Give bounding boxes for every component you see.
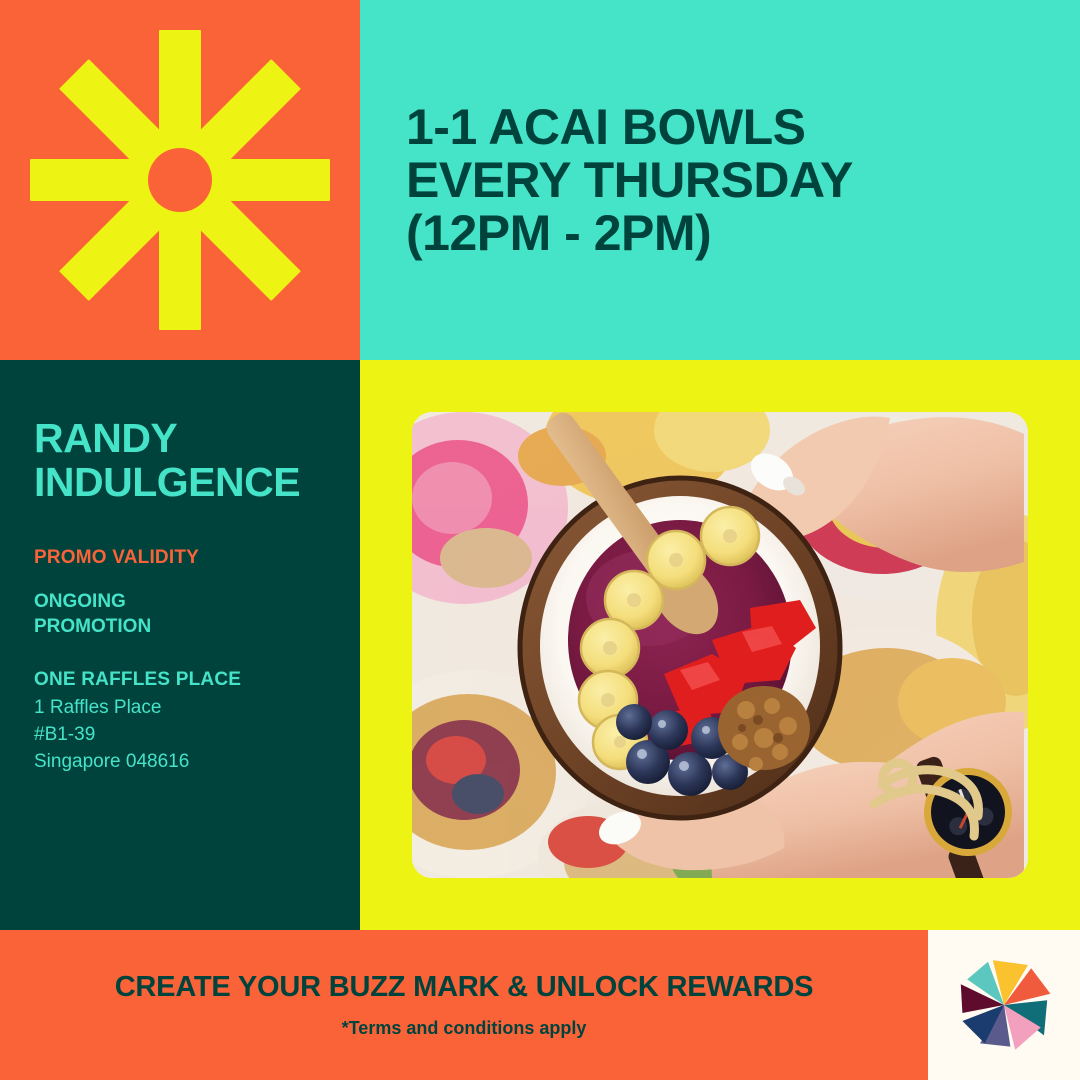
headline-line-1: 1-1 ACAI BOWLS	[406, 101, 853, 154]
outlet-address: 1 Raffles Place #B1-39 Singapore 048616	[34, 695, 326, 776]
promo-validity-value: ONGOING PROMOTION	[34, 589, 326, 639]
footer-terms-text: *Terms and conditions apply	[342, 1018, 587, 1039]
outlet-address-line-1: 1 Raffles Place	[34, 695, 326, 722]
acai-bowl-photo	[412, 412, 1028, 878]
asterisk-sunburst-icon	[30, 30, 330, 330]
outlet-address-line-2: #B1-39	[34, 722, 326, 749]
outlet-name: ONE RAFFLES PLACE	[34, 669, 326, 691]
outlet-address-line-3: Singapore 048616	[34, 749, 326, 776]
promo-validity-line-2: PROMOTION	[34, 614, 326, 639]
footer-cta-text: CREATE YOUR BUZZ MARK & UNLOCK REWARDS	[115, 971, 814, 1004]
promo-headline: 1-1 ACAI BOWLS EVERY THURSDAY (12PM - 2P…	[406, 101, 853, 260]
promo-validity-line-1: ONGOING	[34, 589, 326, 614]
promo-validity-group: PROMO VALIDITY ONGOING PROMOTION	[34, 547, 326, 639]
headline-panel: 1-1 ACAI BOWLS EVERY THURSDAY (12PM - 2P…	[360, 0, 1080, 360]
pinwheel-logo-icon	[928, 930, 1080, 1080]
photo-panel	[360, 360, 1080, 930]
merchant-name-line-2: INDULGENCE	[34, 460, 326, 504]
brandmark-panel	[0, 0, 360, 360]
outlet-block: ONE RAFFLES PLACE 1 Raffles Place #B1-39…	[34, 669, 326, 776]
headline-line-2: EVERY THURSDAY	[406, 154, 853, 207]
headline-line-3: (12PM - 2PM)	[406, 207, 853, 260]
promo-poster: 1-1 ACAI BOWLS EVERY THURSDAY (12PM - 2P…	[0, 0, 1080, 1080]
promo-validity-label: PROMO VALIDITY	[34, 547, 326, 569]
asterisk-center-hole	[148, 148, 212, 212]
footer-cta-panel: CREATE YOUR BUZZ MARK & UNLOCK REWARDS *…	[0, 930, 1080, 1080]
merchant-name-line-1: RANDY	[34, 416, 326, 460]
merchant-name: RANDY INDULGENCE	[34, 416, 326, 505]
merchant-info-panel: RANDY INDULGENCE PROMO VALIDITY ONGOING …	[0, 360, 360, 930]
